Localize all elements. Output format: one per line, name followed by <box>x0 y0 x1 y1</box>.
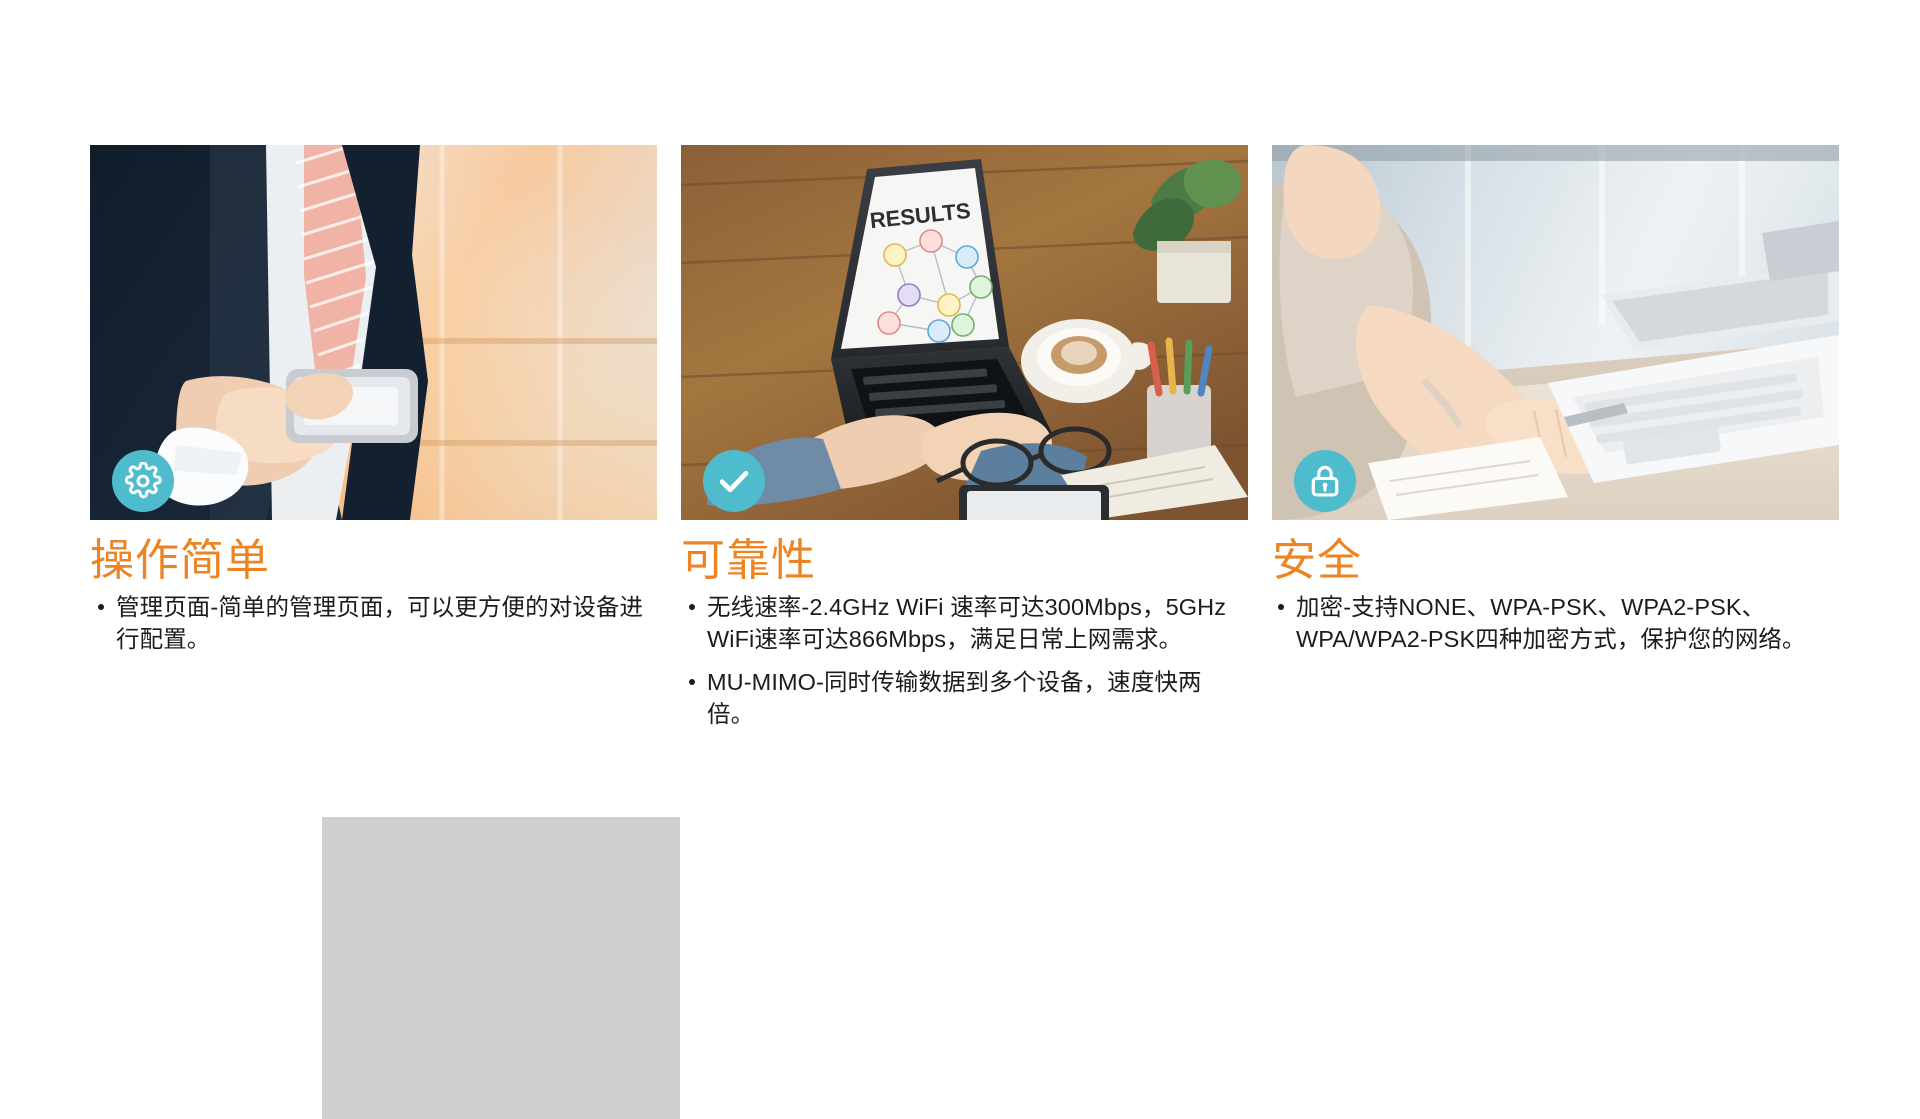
feature-bullets-reliability: 无线速率-2.4GHz WiFi 速率可达300Mbps，5GHz WiFi速率… <box>681 591 1248 730</box>
image-woman-typing-laptop <box>1272 145 1839 520</box>
empty-image-placeholder <box>322 817 680 1119</box>
feature-bullets-security: 加密-支持NONE、WPA-PSK、WPA2-PSK、WPA/WPA2-PSK四… <box>1272 591 1839 655</box>
lock-icon <box>1306 462 1344 500</box>
badge-check <box>703 450 765 512</box>
list-item: MU-MIMO-同时传输数据到多个设备，速度快两倍。 <box>707 666 1248 730</box>
feature-image-reliability: RESULTS <box>681 145 1248 520</box>
feature-card-easy-operation: 操作简单 管理页面-简单的管理页面，可以更方便的对设备进行配置。 <box>90 145 657 740</box>
feature-image-security <box>1272 145 1839 520</box>
image-businessman-smartphone <box>90 145 657 520</box>
list-item: 管理页面-简单的管理页面，可以更方便的对设备进行配置。 <box>116 591 657 655</box>
feature-title-reliability: 可靠性 <box>681 536 1248 585</box>
badge-gear <box>112 450 174 512</box>
feature-title-easy-operation: 操作简单 <box>90 536 657 585</box>
image-laptop-results-desk: RESULTS <box>681 145 1248 520</box>
feature-title-security: 安全 <box>1272 536 1839 585</box>
list-item: 无线速率-2.4GHz WiFi 速率可达300Mbps，5GHz WiFi速率… <box>707 591 1248 655</box>
feature-image-easy-operation <box>90 145 657 520</box>
slide-canvas: 操作简单 管理页面-简单的管理页面，可以更方便的对设备进行配置。 <box>0 0 1920 1119</box>
check-icon <box>715 462 753 500</box>
list-item: 加密-支持NONE、WPA-PSK、WPA2-PSK、WPA/WPA2-PSK四… <box>1296 591 1839 655</box>
feature-bullets-easy-operation: 管理页面-简单的管理页面，可以更方便的对设备进行配置。 <box>90 591 657 655</box>
feature-card-security: 安全 加密-支持NONE、WPA-PSK、WPA2-PSK、WPA/WPA2-P… <box>1272 145 1839 740</box>
badge-lock <box>1294 450 1356 512</box>
feature-columns: 操作简单 管理页面-简单的管理页面，可以更方便的对设备进行配置。 <box>90 145 1850 740</box>
feature-card-reliability: RESULTS <box>681 145 1248 740</box>
gear-icon <box>124 462 162 500</box>
